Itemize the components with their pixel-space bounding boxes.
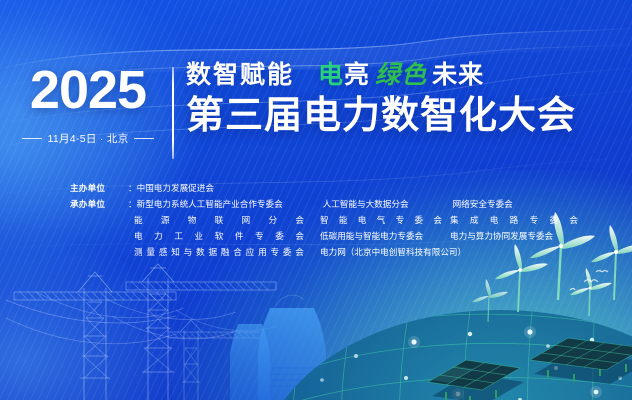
page-title: 第三届电力数智化大会 bbox=[186, 94, 576, 138]
coorganizer-r2-c3: 电力与算力协同发展专委会 bbox=[450, 228, 553, 244]
title-block: 数智赋能 电亮 绿色 未来 第三届电力数智化大会 bbox=[186, 60, 576, 138]
coorganizer-r0-c1: 新型电力系统人工智能产业合作专委会 bbox=[137, 196, 323, 212]
dash-right-icon bbox=[134, 138, 154, 139]
organizers-block: 主办单位 ： 中国电力发展促进会 承办单位 ： 新型电力系统人工智能产业合作专委… bbox=[70, 180, 590, 260]
coorganizer-row: 能源物联网分会 智能电气专委会 集成电路专委会 bbox=[70, 212, 590, 228]
vertical-divider bbox=[172, 67, 174, 159]
solar-panel-group bbox=[428, 338, 632, 400]
bolt-char: 电 bbox=[318, 61, 344, 89]
coorganizer-row: 电力工业软件专委会 低碳用能与智能电力专委会 电力与算力协同发展专委会 bbox=[70, 228, 590, 244]
coorganizer-r0-c3: 网络安全专委会 bbox=[453, 196, 513, 212]
coorganizer-row: 测量感知与数据融合应用专委会 电力网（北京中电创智科技有限公司） bbox=[70, 244, 590, 260]
coorganizer-r2-c1: 电力工业软件专委会 bbox=[134, 228, 320, 244]
globe-node-glow bbox=[408, 326, 602, 400]
birds bbox=[570, 271, 608, 291]
wind-turbine bbox=[591, 225, 632, 300]
coorganizer-r1-c3: 集成电路专委会 bbox=[450, 212, 578, 228]
subtitle: 数智赋能 电亮 绿色 未来 bbox=[186, 60, 576, 90]
globe-nodes bbox=[320, 329, 632, 400]
coorganizer-r3-c2: 电力网（北京中电创智科技有限公司） bbox=[320, 244, 466, 260]
coorganizer-row: 承办单位 ： 新型电力系统人工智能产业合作专委会 人工智能与大数据分会 网络安全… bbox=[70, 196, 590, 212]
host-label: 主办单位 bbox=[70, 180, 128, 196]
coorganizer-r0-c2: 人工智能与大数据分会 bbox=[323, 196, 453, 212]
coorganizer-r2-c2: 低碳用能与智能电力专委会 bbox=[320, 228, 450, 244]
solar-panel bbox=[428, 360, 524, 400]
subtitle-green-highlight: 绿色 bbox=[370, 60, 432, 90]
coorganizer-colon: ： bbox=[128, 196, 137, 212]
coorganizer-label: 承办单位 bbox=[70, 196, 128, 212]
date-text: 11月4-5日 · 北京 bbox=[47, 131, 128, 146]
subtitle-part3: 未来 bbox=[432, 60, 484, 90]
host-row: 主办单位 ： 中国电力发展促进会 bbox=[70, 180, 590, 196]
banner-header: 2025 11月4-5日 · 北京 数智赋能 电亮 绿色 未来 第三届电力数智化… bbox=[0, 62, 632, 172]
subtitle-part2-rest: 亮 bbox=[344, 61, 370, 89]
transmission-tower-group bbox=[6, 264, 278, 400]
coorganizer-r1-c1: 能源物联网分会 bbox=[134, 212, 320, 228]
wind-turbine bbox=[570, 268, 612, 316]
host-value: 中国电力发展促进会 bbox=[137, 180, 323, 196]
dash-left-icon bbox=[22, 138, 42, 139]
coorganizer-r1-c2: 智能电气专委会 bbox=[320, 212, 450, 228]
wind-turbine bbox=[472, 279, 508, 322]
conference-banner: 2025 11月4-5日 · 北京 数智赋能 电亮 绿色 未来 第三届电力数智化… bbox=[0, 0, 632, 400]
subtitle-part1: 数智赋能 bbox=[186, 60, 294, 90]
network-globe bbox=[260, 310, 632, 400]
coorganizer-r3-c1: 测量感知与数据融合应用专委会 bbox=[134, 244, 320, 260]
year-block: 2025 11月4-5日 · 北京 bbox=[22, 62, 154, 146]
globe-mesh bbox=[262, 310, 632, 400]
host-colon: ： bbox=[128, 180, 137, 196]
solar-panel bbox=[530, 338, 632, 384]
cooling-tower-group bbox=[230, 295, 326, 400]
year-text: 2025 bbox=[22, 62, 154, 118]
subtitle-part2: 电亮 bbox=[318, 60, 370, 90]
date-line: 11月4-5日 · 北京 bbox=[22, 131, 154, 146]
